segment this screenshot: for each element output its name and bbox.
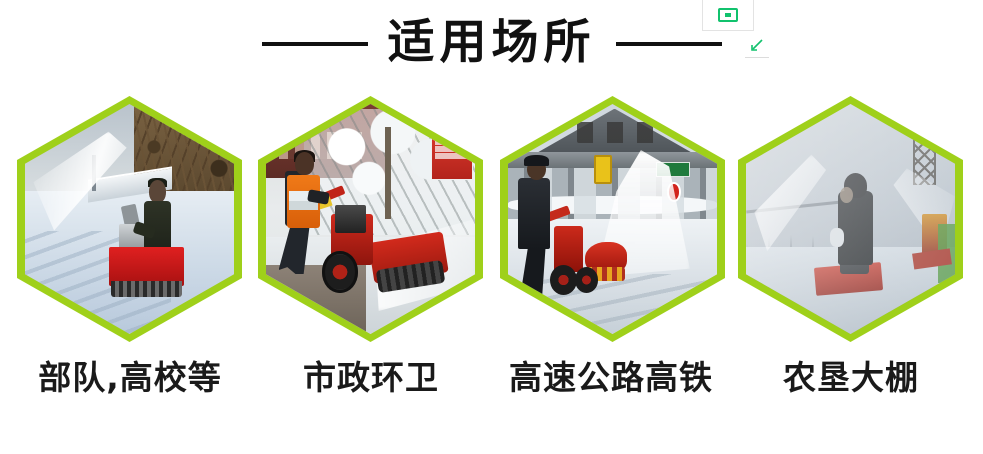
widget-divider	[745, 57, 769, 58]
title-rule-left	[262, 42, 368, 46]
promo-banner: 适用场所	[0, 0, 983, 454]
header: 适用场所	[0, 0, 983, 96]
scenario-card-4[interactable]	[738, 96, 963, 342]
title-block: 适用场所	[0, 8, 983, 80]
scenario-card-1[interactable]	[17, 96, 242, 342]
save-image-widget[interactable]	[702, 0, 754, 31]
caption-row: 部队,高校等 市政环卫 高速公路高铁 农垦大棚	[0, 352, 983, 412]
caption-card-1: 部队,高校等	[0, 352, 260, 404]
save-image-icon	[718, 8, 738, 22]
scenario-card-2[interactable]	[258, 96, 483, 342]
caption-card-3: 高速公路高铁	[481, 352, 741, 404]
scenario-card-3[interactable]	[500, 96, 725, 342]
caption-card-4: 农垦大棚	[721, 352, 981, 404]
title-rule-right	[616, 42, 722, 46]
page-title: 适用场所	[388, 19, 596, 70]
resize-collapse-icon	[750, 38, 764, 52]
scenario-hexagon-gallery	[0, 96, 983, 346]
caption-card-2: 市政环卫	[241, 352, 501, 404]
resize-collapse-button[interactable]	[745, 33, 769, 57]
